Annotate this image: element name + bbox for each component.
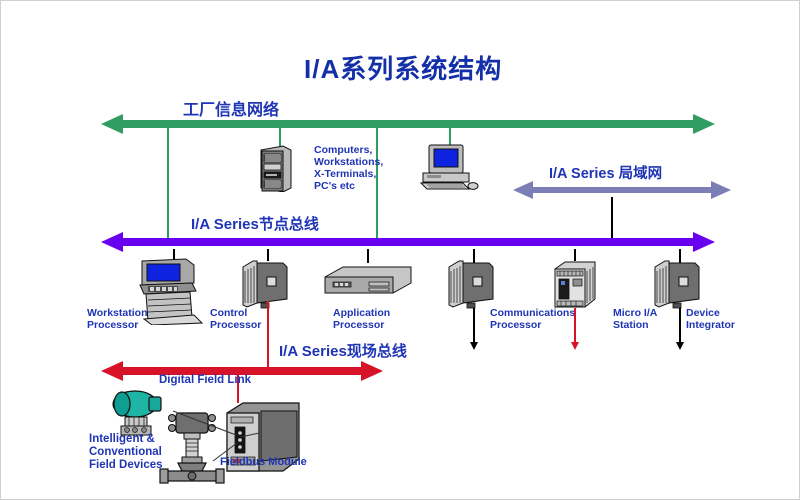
computer-tower-icon [259, 144, 293, 192]
label-micro-ia-station: Micro I/A Station [613, 307, 657, 331]
drop-line-workstation-green [167, 123, 169, 243]
label-application-processor: Application Processor [333, 307, 390, 331]
bus-arrow-node-bus [101, 230, 715, 254]
label-control-processor: Control Processor [210, 307, 261, 331]
label-workstation-processor: Workstation Processor [87, 307, 147, 331]
communications-processor-icon [445, 259, 497, 309]
desktop-pc-icon [419, 143, 479, 191]
riser-application-processor [367, 249, 369, 263]
application-processor-icon [319, 263, 417, 303]
label-device-integrator: Device Integrator [686, 307, 735, 331]
bus-arrow-plant-network [101, 111, 715, 137]
page-title: I/A系列系统结构 [304, 49, 502, 86]
downlink-device-integrator [679, 308, 681, 344]
downlink-arrow-micro-ia [571, 342, 579, 350]
label-field-devices: Intelligent & Conventional Field Devices [89, 433, 163, 473]
downlink-arrow-communications [470, 342, 478, 350]
downlink-arrow-device-integrator [676, 342, 684, 350]
downlink-micro-ia-station [574, 308, 576, 344]
device-integrator-icon [651, 259, 703, 309]
bus-arrow-ia-lan [513, 179, 731, 201]
downlink-communications-processor [473, 308, 475, 344]
diagram-canvas: I/A系列系统结构 工厂信息网络 Computers, Workstations… [0, 0, 800, 500]
control-processor-icon [239, 259, 291, 309]
micro-ia-station-icon [551, 259, 603, 311]
field-device-links [151, 399, 261, 479]
bus-label-fieldbus: I/A Series现场总线 [279, 343, 407, 360]
label-digital-field-link: Digital Field Link [159, 374, 251, 387]
computers-caption: Computers, Workstations, X-Terminals, PC… [314, 144, 383, 192]
